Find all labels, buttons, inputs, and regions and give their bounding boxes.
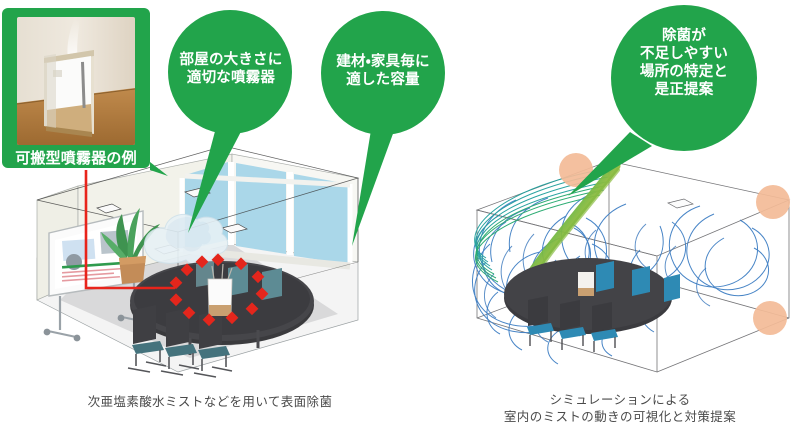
photo-card-label: 可搬型噴霧器の例	[8, 147, 144, 168]
problem-spot-marker	[756, 185, 790, 219]
caption-right-line2: 室内のミストの動きの可視化と対策提案	[440, 409, 800, 426]
illustration-canvas	[0, 0, 800, 440]
caption-right-line1: シミュレーションによる	[440, 392, 800, 409]
caption-left: 次亜塩素酸水ミストなどを用いて表面除菌	[0, 394, 420, 411]
figure-root: 部屋の大きさに 適切な噴霧器 建材・家具毎に 適した容量 除菌が 不足しやすい …	[0, 0, 800, 440]
callout-bubble-weak-spots[interactable]	[568, 5, 757, 196]
right-simulation	[472, 153, 790, 372]
problem-spot-marker	[753, 301, 787, 335]
sim-furniture	[504, 258, 680, 352]
caption-right: シミュレーションによる 室内のミストの動きの可視化と対策提案	[440, 392, 800, 426]
sprayer-photo	[17, 17, 135, 145]
left-room-illustration	[37, 146, 358, 377]
